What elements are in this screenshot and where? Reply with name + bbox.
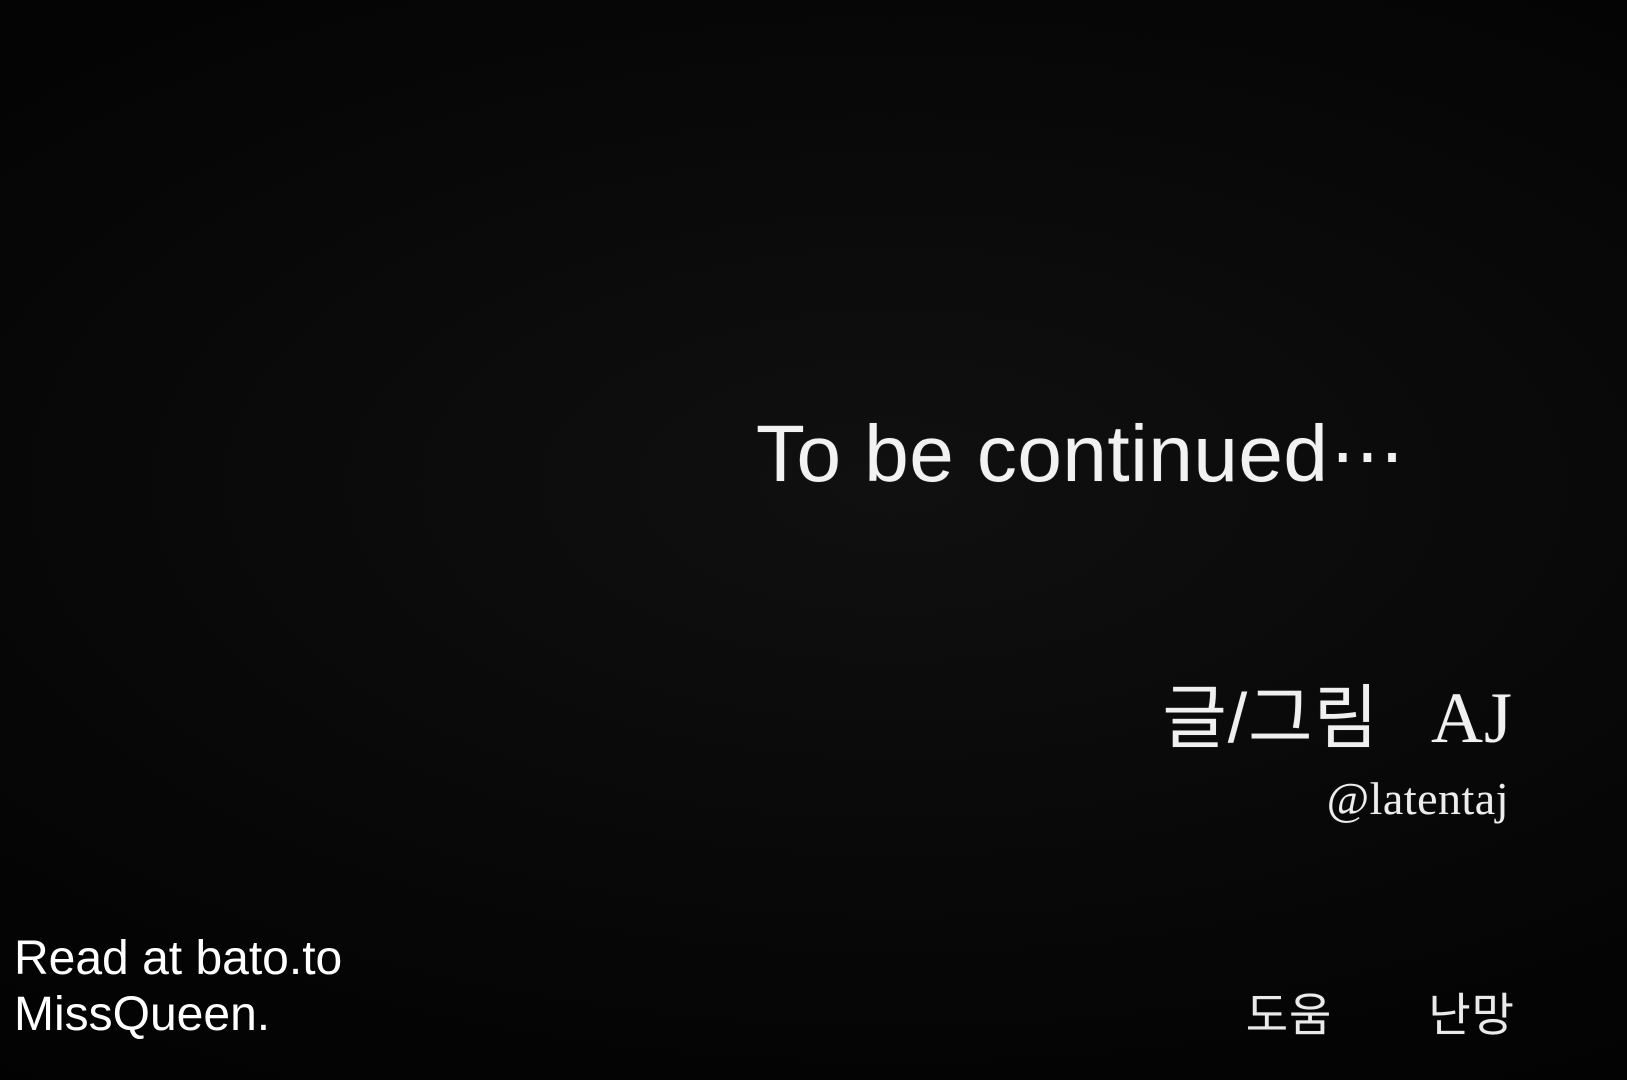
- comic-end-panel: To be continued⋯ 글/그림 AJ @latentaj 도움 난망…: [0, 0, 1627, 1080]
- credit-author-name: AJ: [1431, 682, 1513, 754]
- watermark-line-2: MissQueen.: [14, 987, 342, 1044]
- to-be-continued-label: To be continued: [756, 409, 1328, 498]
- to-be-continued-text: To be continued⋯: [756, 414, 1404, 494]
- watermark-line-1: Read at bato.to: [14, 931, 342, 988]
- credit-helper-label-1: 도움: [1246, 992, 1333, 1038]
- credit-helpers-row: 도움 난망: [1246, 992, 1515, 1038]
- site-watermark: Read at bato.to MissQueen.: [14, 931, 342, 1044]
- credit-social-handle: @latentaj: [873, 776, 1513, 822]
- credit-role-label: 글/그림: [1162, 683, 1379, 753]
- panel-background-texture: [0, 0, 1627, 1080]
- credit-author-row: 글/그림 AJ: [873, 682, 1513, 754]
- credits-block: 글/그림 AJ @latentaj: [873, 682, 1513, 822]
- credit-helper-label-2: 난망: [1428, 992, 1515, 1038]
- ellipsis-glyph: ⋯: [1330, 414, 1404, 497]
